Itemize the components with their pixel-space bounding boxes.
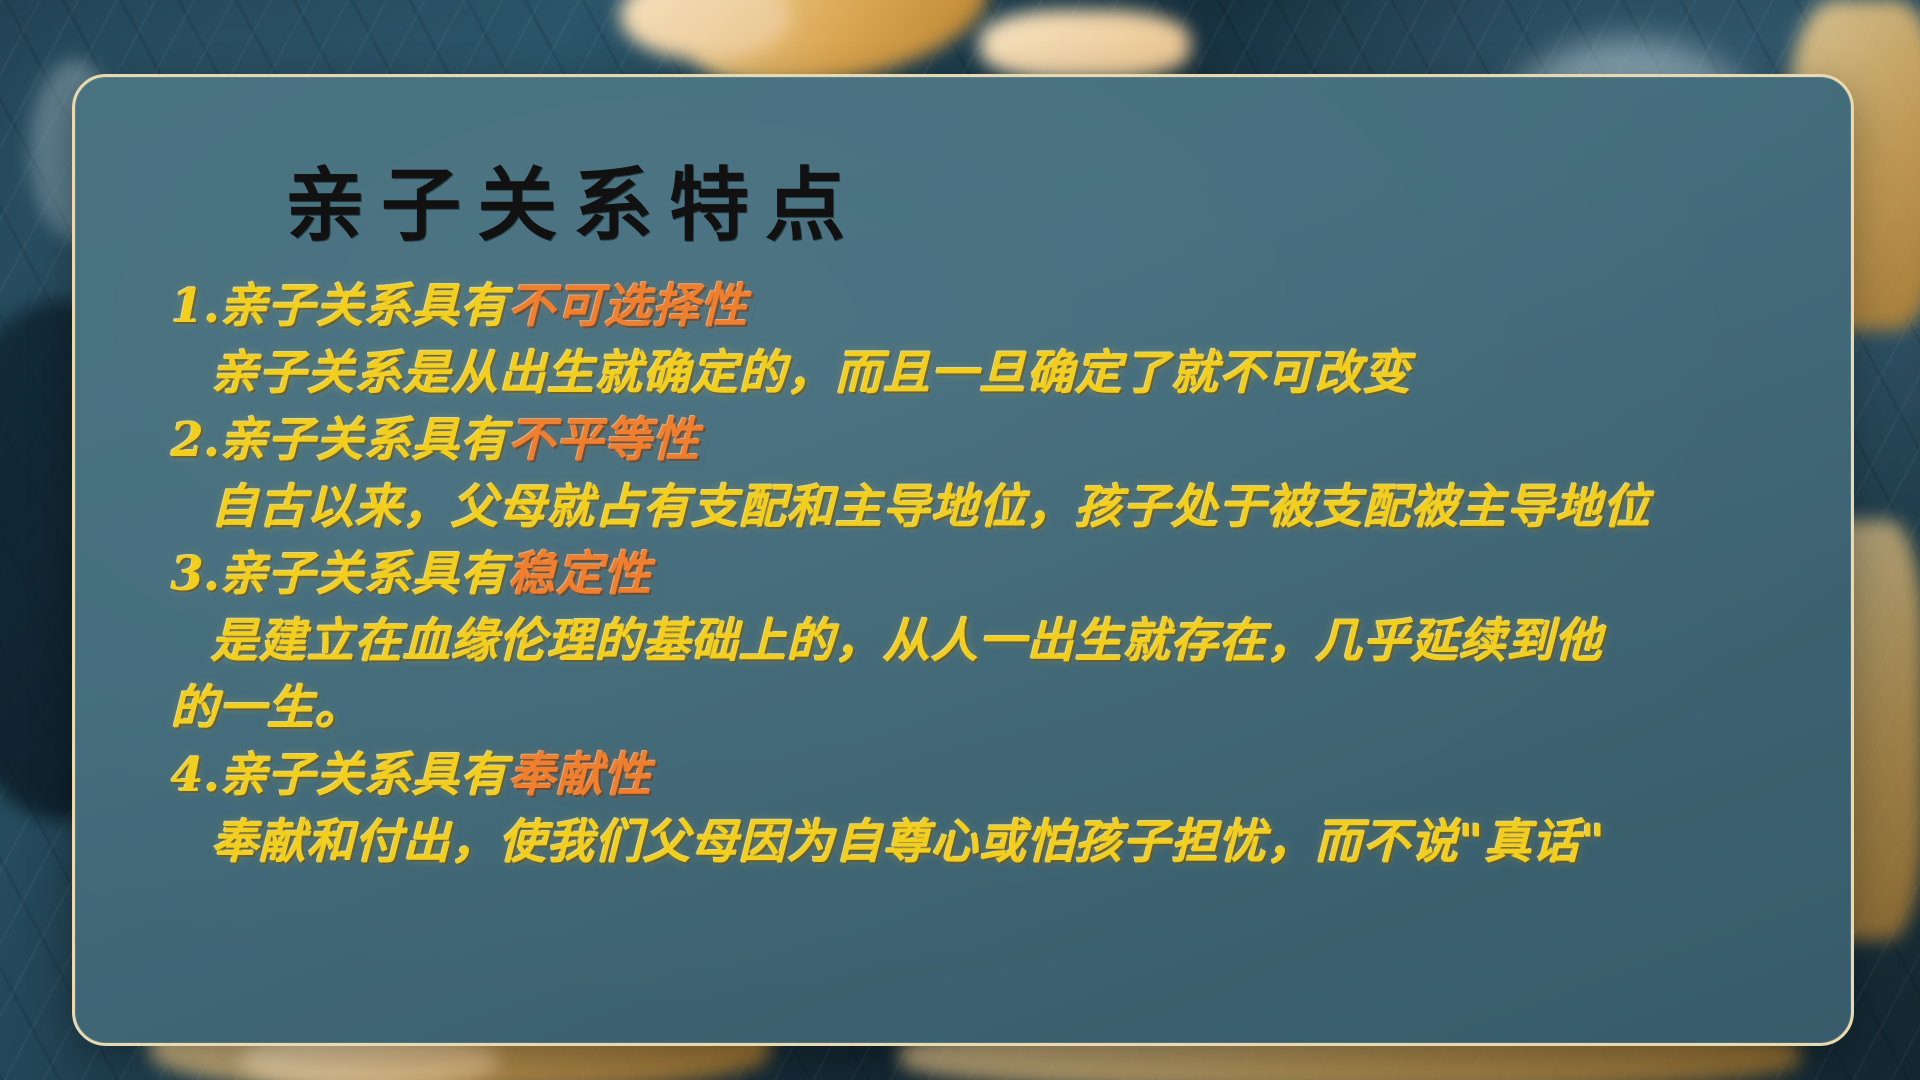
item-number: 4. (171, 748, 220, 803)
item-heading-text: 亲子关系具有 (220, 748, 508, 803)
list-item-detail: 自古以来，父母就占有支配和主导地位，孩子处于被支配被主导地位 (171, 474, 1811, 541)
item-heading-text: 亲子关系具有 (220, 547, 508, 602)
item-detail-text: 自古以来，父母就占有支配和主导地位，孩子处于被支配被主导地位 (211, 480, 1651, 535)
item-heading-text: 亲子关系具有 (220, 413, 508, 468)
item-detail-text: 亲子关系是从出生就确定的，而且一旦确定了就不可改变 (211, 346, 1411, 401)
item-heading-highlight: 奉献性 (508, 748, 652, 803)
item-number: 2. (171, 413, 220, 468)
item-heading-highlight: 稳定性 (508, 547, 652, 602)
list-item-heading: 4.亲子关系具有奉献性 (171, 742, 1811, 809)
item-detail-text: 是建立在血缘伦理的基础上的，从人一出生就存在，几乎延续到他 (211, 614, 1603, 669)
list-item-detail-continued: 的一生。 (171, 675, 1811, 742)
list-item-detail: 亲子关系是从出生就确定的，而且一旦确定了就不可改变 (171, 340, 1811, 407)
item-detail-text-continued: 的一生。 (171, 681, 363, 736)
list-item-detail: 奉献和付出，使我们父母因为自尊心或怕孩子担忧，而不说"真话" (171, 809, 1811, 876)
item-heading-highlight: 不平等性 (508, 413, 700, 468)
bullet-list: 1.亲子关系具有不可选择性 亲子关系是从出生就确定的，而且一旦确定了就不可改变 … (171, 273, 1811, 876)
item-number: 3. (171, 547, 220, 602)
list-item-heading: 3.亲子关系具有稳定性 (171, 541, 1811, 608)
item-number: 1. (171, 279, 220, 334)
list-item-heading: 1.亲子关系具有不可选择性 (171, 273, 1811, 340)
item-heading-text: 亲子关系具有 (220, 279, 508, 334)
list-item-detail: 是建立在血缘伦理的基础上的，从人一出生就存在，几乎延续到他 (171, 608, 1811, 675)
list-item-heading: 2.亲子关系具有不平等性 (171, 407, 1811, 474)
content-card: 亲子关系特点 1.亲子关系具有不可选择性 亲子关系是从出生就确定的，而且一旦确定… (72, 74, 1854, 1046)
item-detail-text: 奉献和付出，使我们父母因为自尊心或怕孩子担忧，而不说"真话" (211, 815, 1606, 870)
item-heading-highlight: 不可选择性 (508, 279, 748, 334)
page-title: 亲子关系特点 (285, 165, 861, 245)
cream-accent-blob (980, 10, 1190, 80)
slide-canvas: 亲子关系特点 1.亲子关系具有不可选择性 亲子关系是从出生就确定的，而且一旦确定… (0, 0, 1920, 1080)
